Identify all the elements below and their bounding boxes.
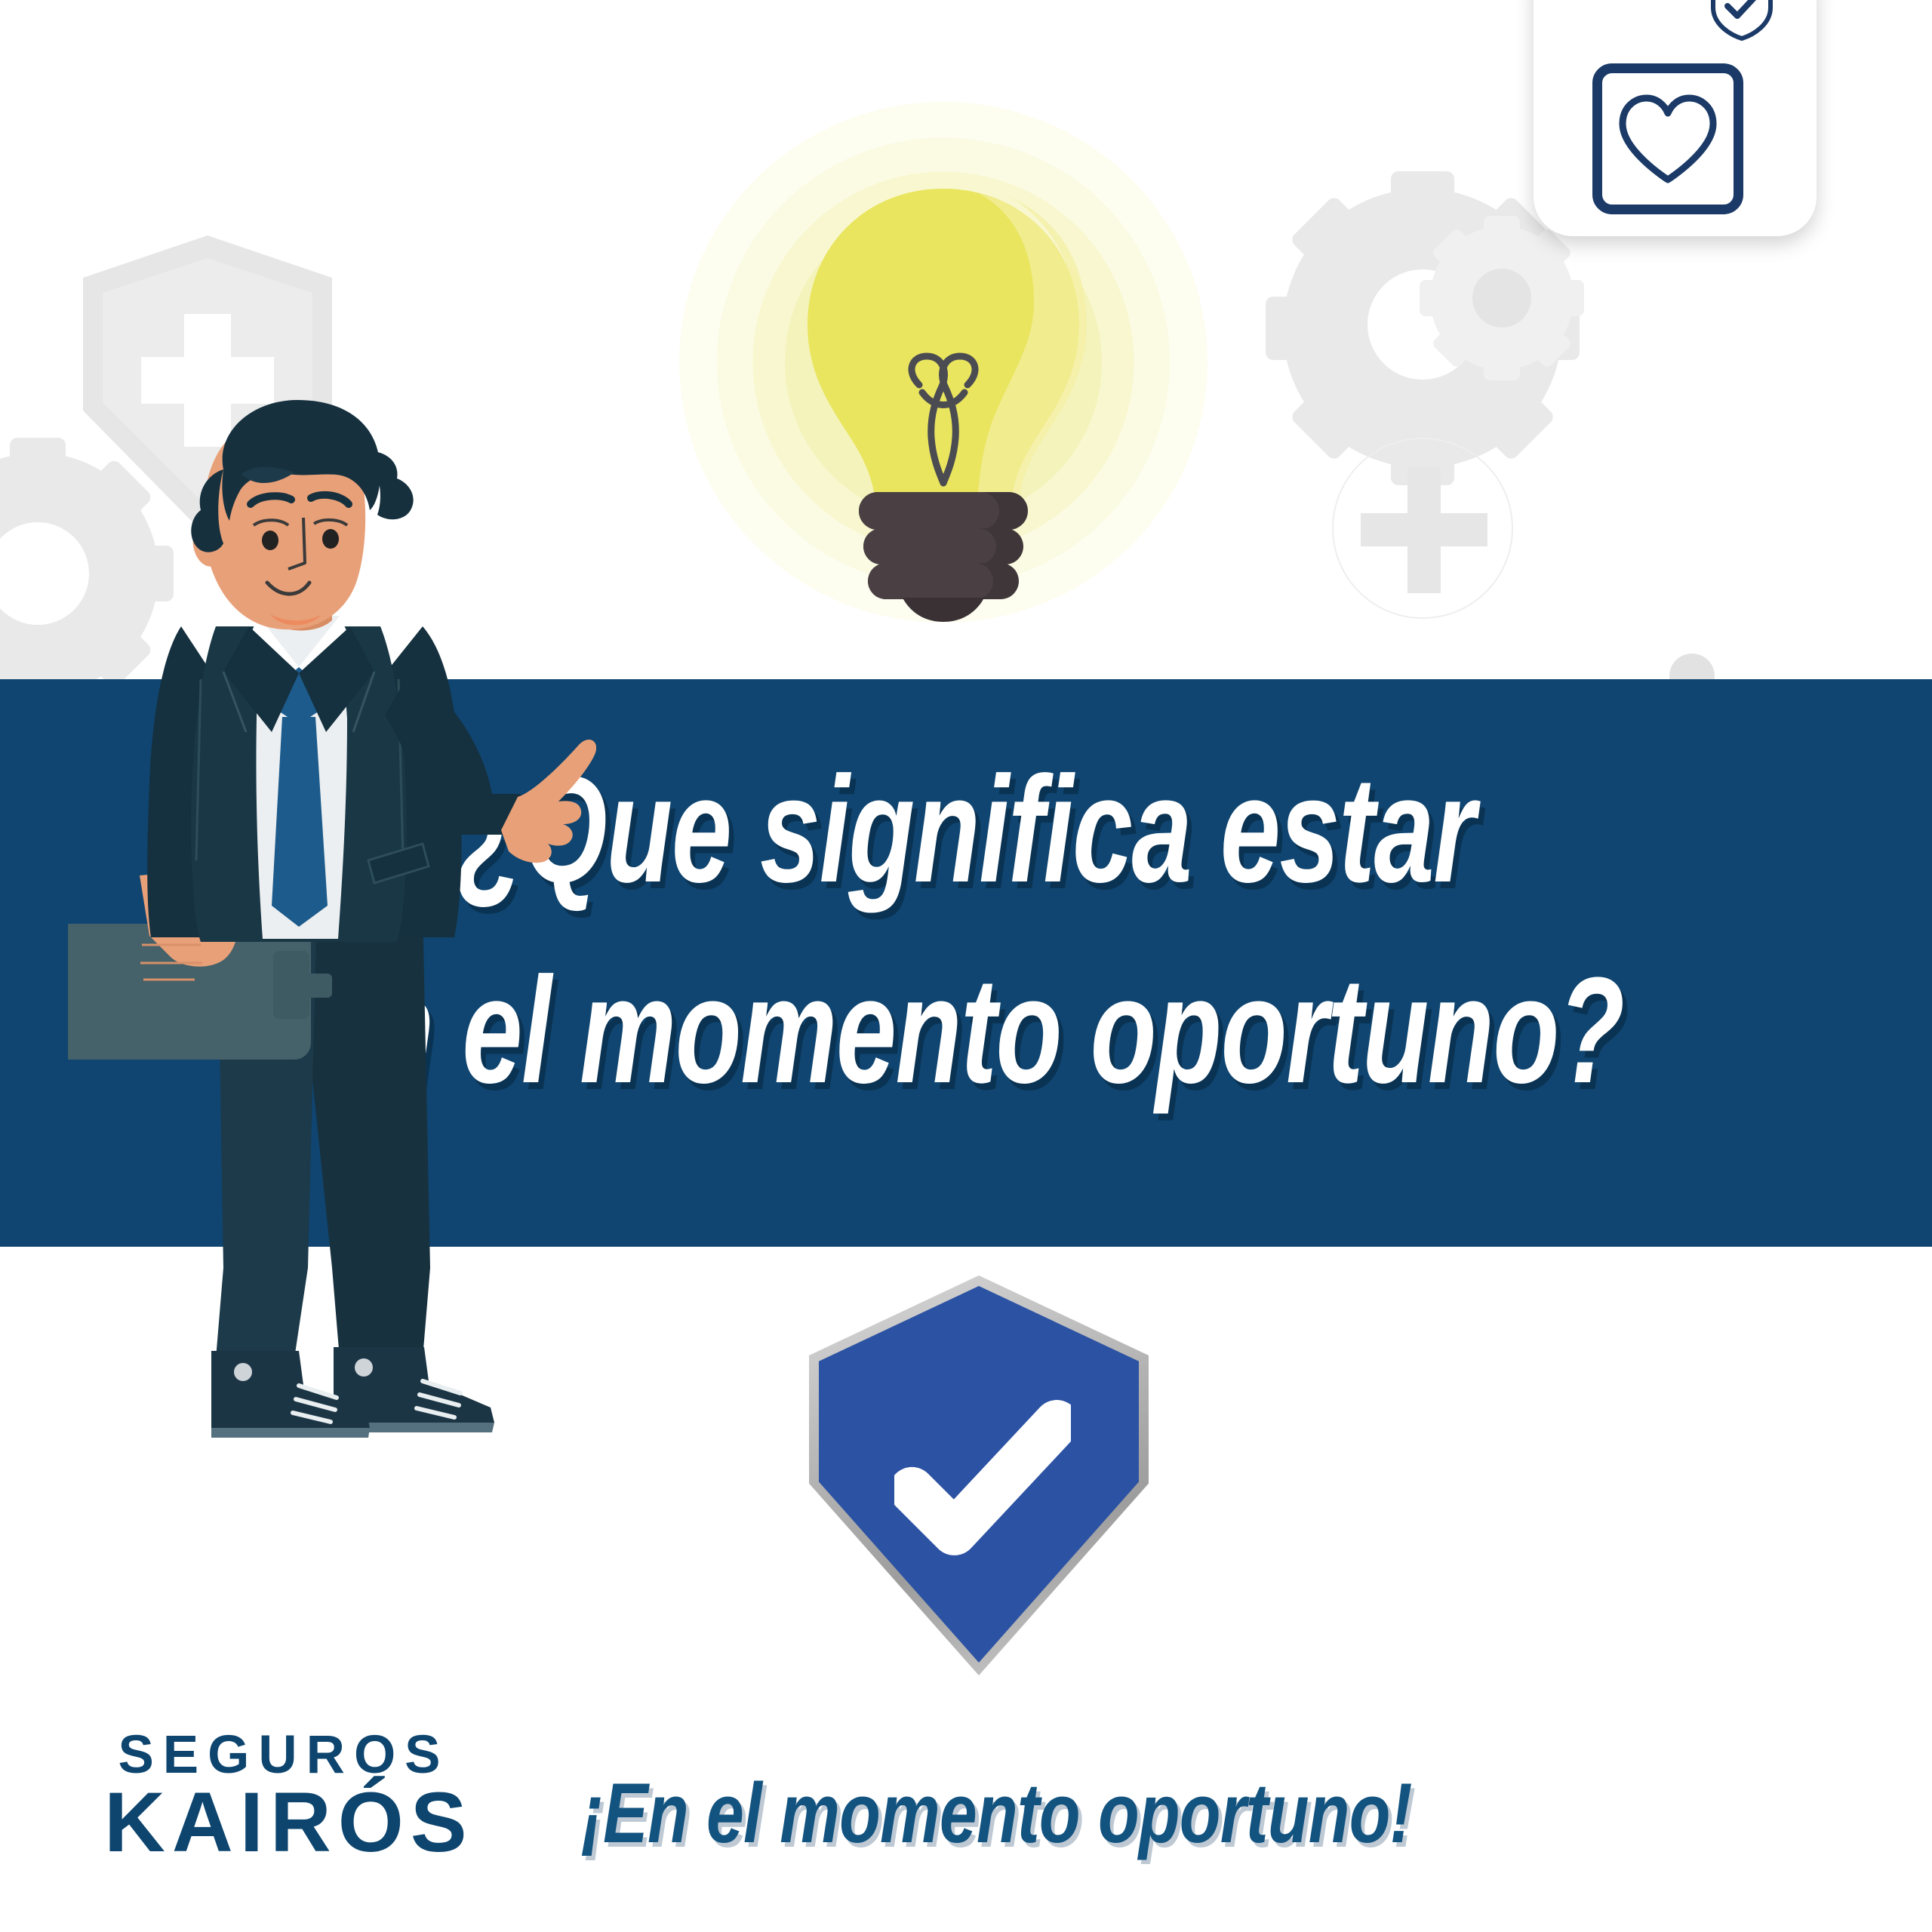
- logo-line-seguros: SEGUROS: [98, 1730, 460, 1780]
- shield-check-icon: [1707, 0, 1777, 42]
- plus-circle-watermark: [1332, 438, 1513, 619]
- businessman-illustration: [68, 377, 596, 1472]
- brand-logo-card[interactable]: [1534, 0, 1817, 236]
- social-media-post: ¿Que significa estar en el momento oport…: [0, 0, 1932, 1932]
- logo-line-kairos: KAIRÓS: [98, 1780, 460, 1865]
- heart-icon: [1615, 91, 1721, 187]
- brand-wordmark: SEGUROS KAIRÓS: [98, 1730, 460, 1865]
- tagline-text: ¡En el momento oportuno!: [581, 1764, 1412, 1862]
- lightbulb-icon: [679, 60, 1207, 664]
- shield-check-badge: [809, 1275, 1149, 1675]
- check-icon: [894, 1395, 1071, 1564]
- gear-watermark-right-small: [1430, 226, 1574, 370]
